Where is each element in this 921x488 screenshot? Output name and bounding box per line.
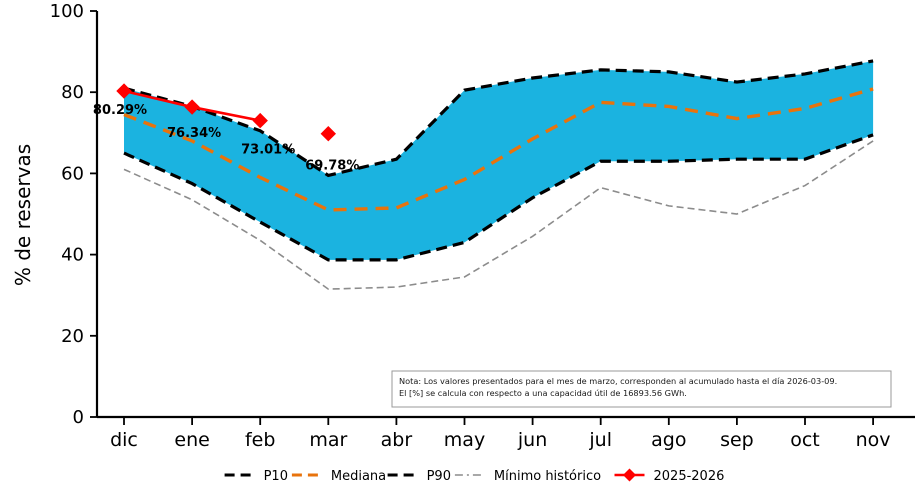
x-tick-label: sep [720, 429, 754, 451]
y-tick-label: 100 [50, 1, 84, 22]
y-axis-label: % de reservas [11, 144, 35, 286]
chart-figure: % de reservas 020406080100 dicenefebmara… [0, 0, 921, 488]
x-tick-label: dic [110, 429, 138, 451]
legend-swatch-marker [623, 469, 636, 482]
note-box: Nota: Los valores presentados para el me… [392, 371, 891, 407]
legend-label: 2025-2026 [654, 469, 725, 484]
y-tick-group: 020406080100 [50, 1, 97, 428]
y-tick-label: 80 [61, 82, 84, 103]
x-tick-label: jun [517, 429, 547, 451]
data-point-label: 73.01% [241, 143, 295, 158]
x-tick-group: dicenefebmarabrmayjunjulagosepoctnov [110, 417, 890, 451]
x-tick-label: oct [790, 429, 820, 451]
x-tick-label: mar [309, 429, 347, 451]
y-tick-label: 0 [73, 407, 84, 428]
x-tick-label: ene [174, 429, 209, 451]
y-tick-label: 40 [61, 245, 84, 266]
x-tick-label: nov [856, 429, 891, 451]
data-point-label: 69.78% [305, 159, 359, 174]
note-line-1: Nota: Los valores presentados para el me… [399, 376, 837, 386]
y-tick-label: 20 [61, 326, 84, 347]
data-point-marker [321, 127, 335, 141]
legend-label: Mediana [331, 469, 386, 484]
legend-label: Mínimo histórico [494, 469, 601, 484]
note-line-2: El [%] se calcula con respecto a una cap… [399, 388, 687, 398]
data-point-label: 76.34% [167, 126, 221, 141]
legend-label: P90 [427, 469, 451, 484]
x-tick-label: feb [245, 429, 275, 451]
x-tick-label: abr [381, 429, 413, 451]
x-tick-label: jul [588, 429, 612, 451]
legend-label: P10 [264, 469, 288, 484]
y-tick-label: 60 [61, 163, 84, 184]
data-point-marker [253, 114, 267, 128]
reservoir-reserves-chart: % de reservas 020406080100 dicenefebmara… [0, 0, 921, 488]
data-point-label: 80.29% [93, 103, 147, 118]
x-tick-label: ago [651, 429, 686, 451]
x-tick-label: may [444, 429, 485, 451]
chart-legend: P10MedianaP90Mínimo histórico2025-2026 [225, 469, 725, 485]
